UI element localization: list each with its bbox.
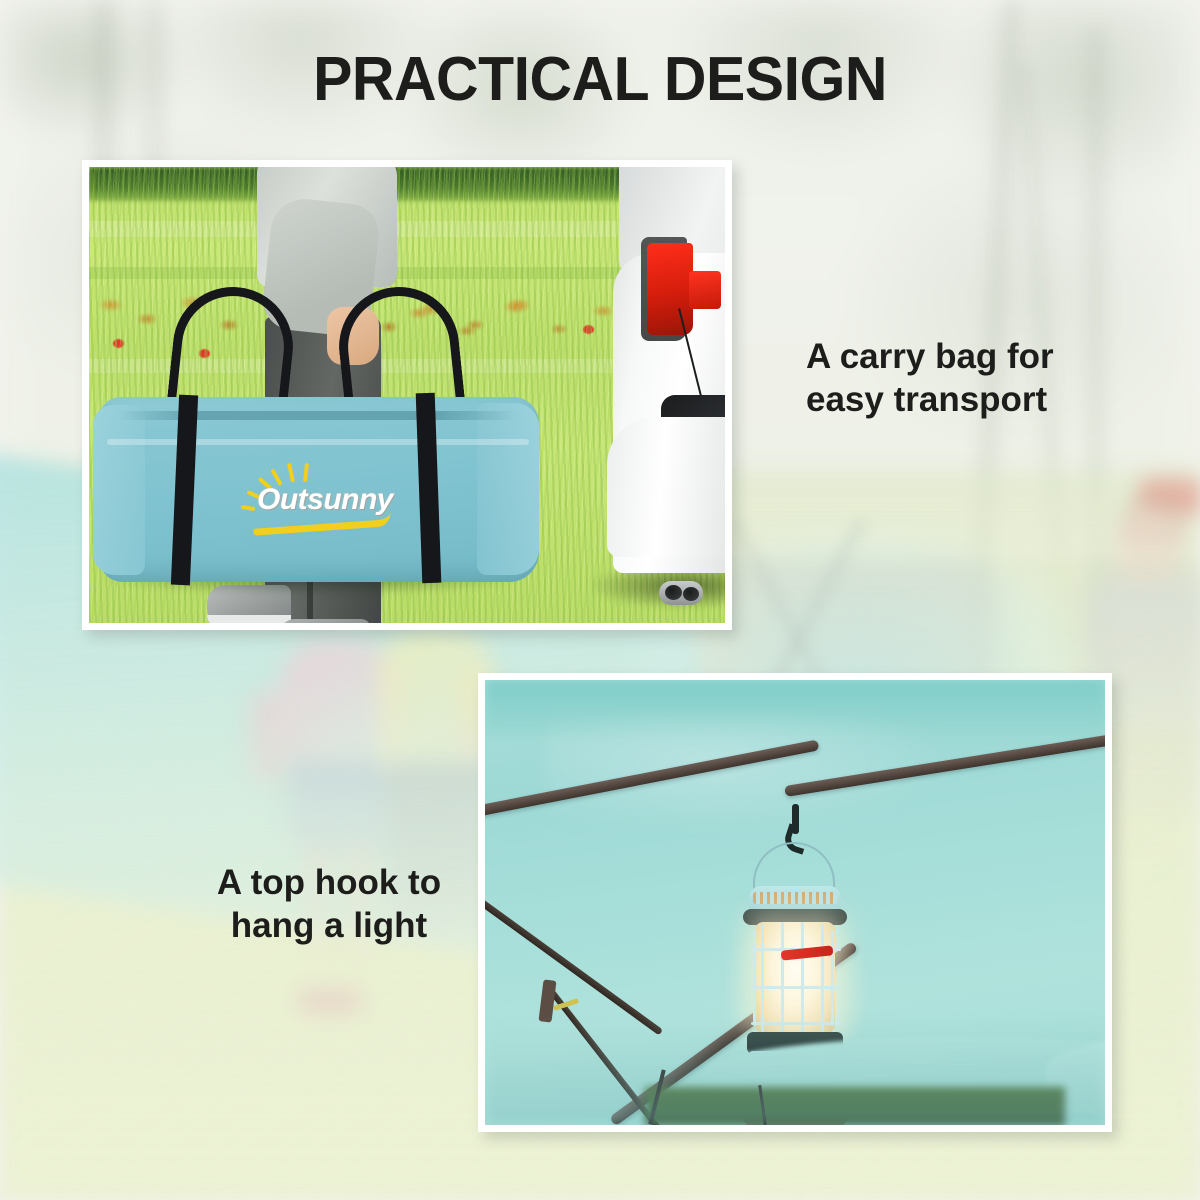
top-hook-photo: [478, 673, 1112, 1132]
page-title: PRACTICAL DESIGN: [30, 44, 1170, 115]
top-hook-photo-inner: [485, 680, 1105, 1125]
background-child-shoe: [298, 988, 362, 1014]
sun-ray-icon: [241, 505, 255, 511]
tent-bottom-shade: [485, 1015, 1105, 1125]
car-exhaust-hole: [683, 587, 699, 601]
callout-top-hook: A top hook to hang a light: [164, 862, 494, 947]
sun-ray-icon: [303, 463, 309, 482]
car-taillight-lens: [689, 271, 721, 309]
bag-scene: Outsunny: [89, 167, 725, 623]
callout-top-hook-line1: A top hook to: [217, 863, 441, 902]
callout-top-hook-line2: hang a light: [164, 905, 494, 948]
outsunny-logo: Outsunny: [241, 463, 401, 541]
background-child-skirt: [288, 760, 388, 850]
logo-wordmark: Outsunny: [257, 483, 393, 517]
lantern-vents: [753, 892, 837, 904]
callout-carry-bag-line1: A carry bag for: [806, 337, 1054, 376]
carry-bag-photo: Outsunny: [82, 160, 732, 630]
background-adult-head: [1118, 508, 1180, 586]
callout-carry-bag-line2: easy transport: [806, 379, 1136, 422]
lantern-cage-ring: [751, 986, 841, 989]
tent-scene: [485, 680, 1105, 1125]
lantern-cage-bar: [831, 930, 834, 1026]
bag-zipper: [117, 411, 517, 420]
sun-ray-icon: [287, 463, 295, 482]
callout-carry-bag: A carry bag for easy transport: [806, 336, 1136, 421]
car-bumper: [607, 417, 725, 557]
bag-end-left: [93, 405, 145, 575]
carry-bag-photo-inner: Outsunny: [89, 167, 725, 623]
car-exhaust-hole: [665, 585, 682, 600]
bag-end-right: [477, 403, 539, 575]
lantern-cage-bar: [753, 930, 756, 1026]
person-shoe: [279, 619, 371, 623]
car-taillight: [647, 243, 693, 335]
person-shoe-sole: [207, 615, 291, 623]
bag-seam: [107, 439, 529, 445]
